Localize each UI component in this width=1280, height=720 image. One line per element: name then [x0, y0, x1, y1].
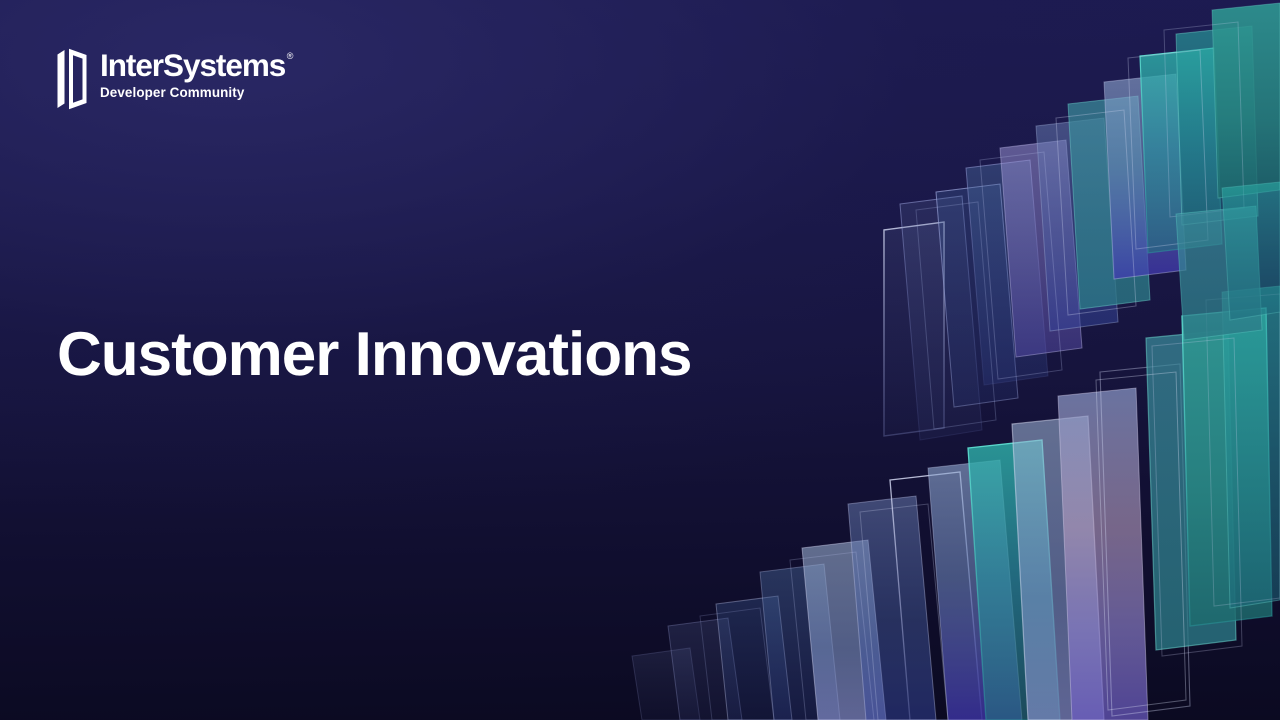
lower-cascade-group: [632, 286, 1280, 720]
brand-wordmark-text: InterSystems: [100, 50, 285, 82]
brand-wordmark: InterSystems ®: [100, 50, 292, 82]
registered-trademark-icon: ®: [287, 52, 293, 61]
brand-sub-brand: Developer Community: [100, 86, 292, 101]
upper-cascade-group: [884, 3, 1280, 440]
logo-text-group: InterSystems ® Developer Community: [100, 48, 292, 100]
slide-title: Customer Innovations: [57, 322, 692, 389]
brand-logo[interactable]: InterSystems ® Developer Community: [57, 48, 292, 110]
mid-bridge-group: [1176, 182, 1280, 340]
intersystems-door-mark-icon: [57, 48, 87, 110]
title-slide: InterSystems ® Developer Community Custo…: [0, 0, 1280, 720]
